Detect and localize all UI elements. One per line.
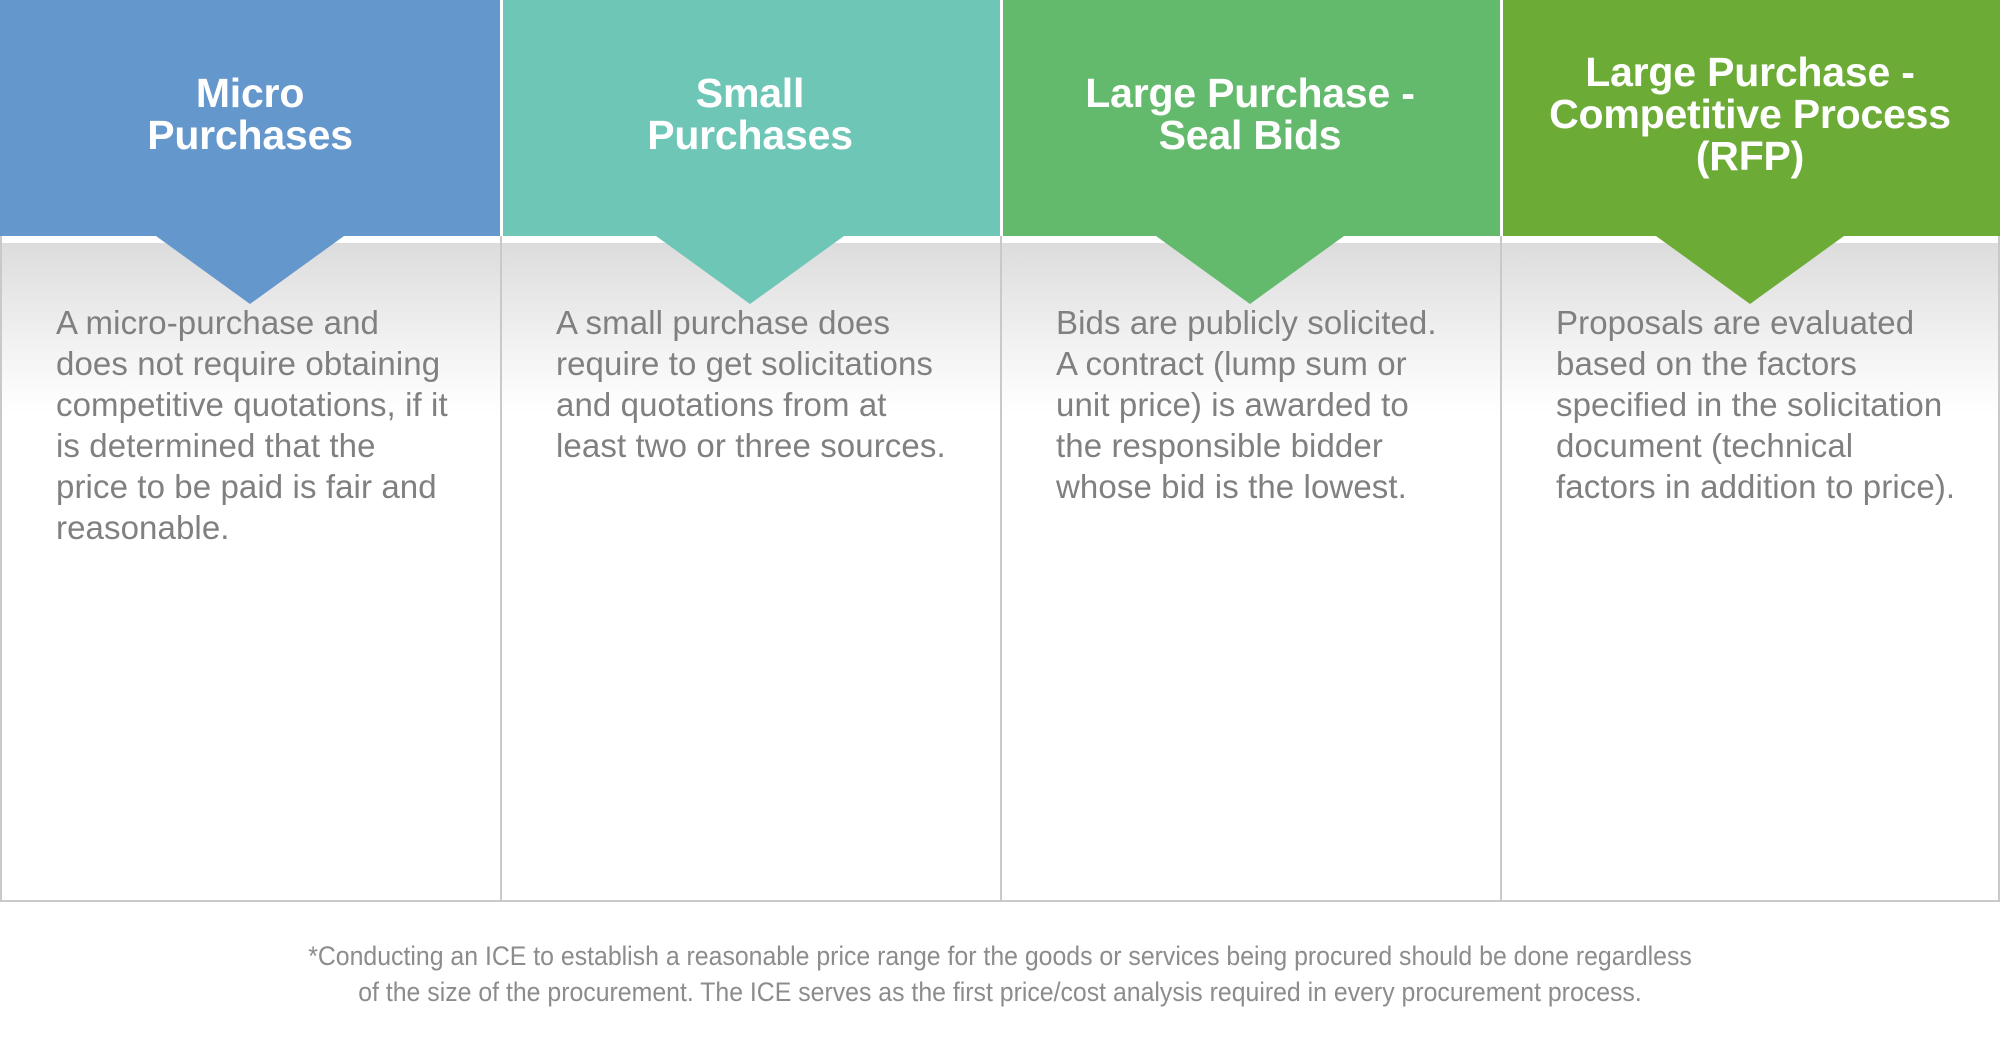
body-column-micro-purchases: A micro-purchase and does not require ob… xyxy=(0,236,500,901)
footnote: *Conducting an ICE to establish a reason… xyxy=(80,938,1920,1010)
header-separator xyxy=(1500,0,1503,236)
header-column-small-purchases[interactable]: Small Purchases xyxy=(500,0,1000,236)
body-text-large-purchase-competitive-process: Proposals are evaluated based on the fac… xyxy=(1556,286,1956,507)
table-bottom-rule xyxy=(0,900,2000,902)
header-column-micro-purchases[interactable]: Micro Purchases xyxy=(0,0,500,236)
header-title-large-purchase-competitive-process: Large Purchase - Competitive Process (RF… xyxy=(1549,52,1951,177)
infographic-canvas: Micro Purchases Small Purchases Large Pu… xyxy=(0,0,2000,1052)
header-separator xyxy=(1000,0,1003,236)
header-column-large-purchase-competitive-process[interactable]: Large Purchase - Competitive Process (RF… xyxy=(1500,0,2000,236)
body-column-large-purchase-seal-bids: Bids are publicly solicited. A contract … xyxy=(1000,236,1500,901)
column-divider xyxy=(1500,236,1502,901)
footnote-line-2: of the size of the procurement. The ICE … xyxy=(80,974,1920,1010)
header-title-small-purchases: Small Purchases xyxy=(647,73,853,157)
header-column-large-purchase-seal-bids[interactable]: Large Purchase - Seal Bids xyxy=(1000,0,1500,236)
column-divider xyxy=(500,236,502,901)
header-band: Micro Purchases Small Purchases Large Pu… xyxy=(0,0,2000,236)
body-text-micro-purchases: A micro-purchase and does not require ob… xyxy=(56,286,456,548)
body-text-small-purchases: A small purchase does require to get sol… xyxy=(556,286,956,466)
column-divider xyxy=(1000,236,1002,901)
body-column-large-purchase-competitive-process: Proposals are evaluated based on the fac… xyxy=(1500,236,2000,901)
body-column-small-purchases: A small purchase does require to get sol… xyxy=(500,236,1000,901)
body-area: A micro-purchase and does not require ob… xyxy=(0,236,2000,901)
header-title-large-purchase-seal-bids: Large Purchase - Seal Bids xyxy=(1085,73,1415,157)
table-left-edge xyxy=(0,236,2,901)
header-title-micro-purchases: Micro Purchases xyxy=(147,73,353,157)
header-separator xyxy=(500,0,503,236)
body-text-large-purchase-seal-bids: Bids are publicly solicited. A contract … xyxy=(1056,286,1456,507)
footnote-line-1: *Conducting an ICE to establish a reason… xyxy=(80,938,1920,974)
